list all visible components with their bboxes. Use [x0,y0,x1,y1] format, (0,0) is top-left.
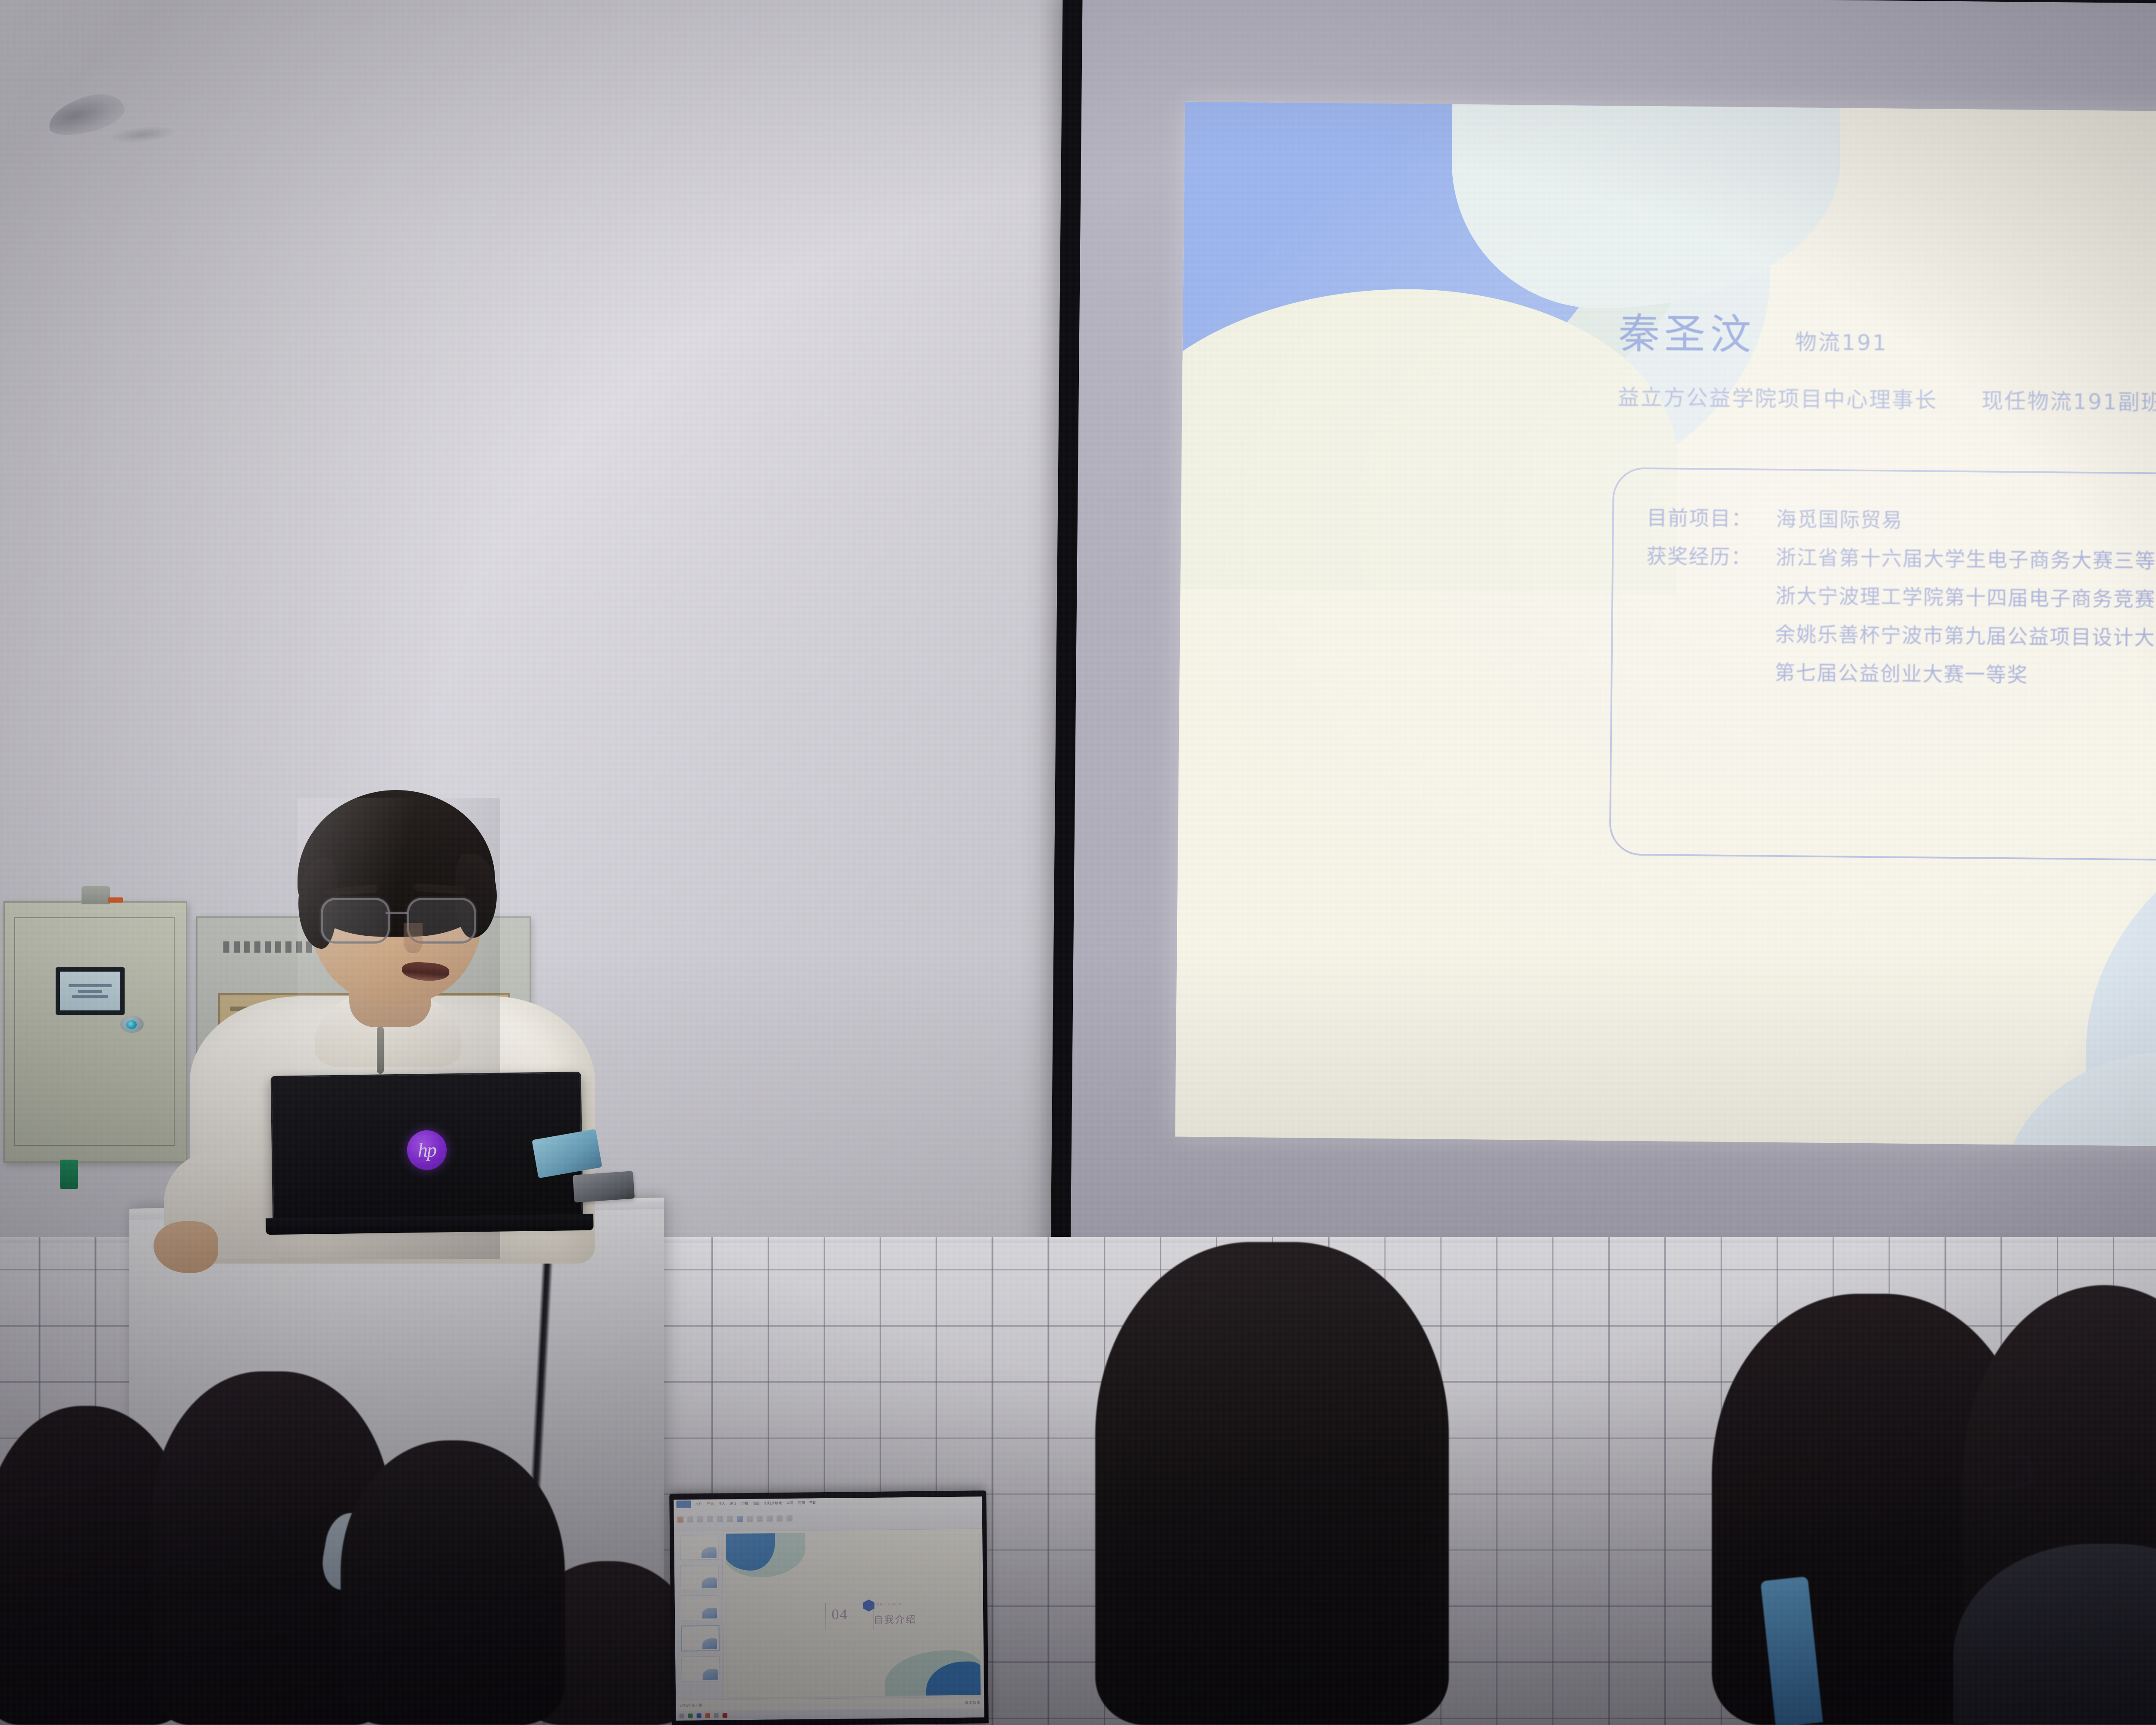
control-box-indicator-light-icon [120,1016,144,1033]
control-box-latch-icon [81,886,110,904]
projected-slide: 秦圣汶 物流191 益立方公益学院项目中心理事长 现任物流191副班长 目前项目… [1175,102,2156,1150]
classroom-scene: 秦圣汶 物流191 益立方公益学院项目中心理事长 现任物流191副班长 目前项目… [0,0,2156,1725]
screen-surface: 秦圣汶 物流191 益立方公益学院项目中心理事长 现任物流191副班长 目前项目… [1070,0,2156,1283]
audience-laptop[interactable]: 文件 开始 插入 设计 切换 动画 幻灯片放映 审阅 视图 帮助 [669,1490,989,1725]
new-slide-icon[interactable] [687,1516,693,1522]
slide-thumbnail-panel[interactable]: 1 2 3 4 5 [674,1531,724,1700]
control-box-panel-outline [14,917,175,1146]
card-row-project: 目前项目： 海觅国际贸易 [1647,501,2156,536]
presenter-zipper-icon [377,1026,384,1074]
status-notes-comments: 备注 批注 [965,1700,980,1705]
card-value-award-3: 余姚乐善杯宁波市第九届公益项目设计大赛三等奖 [1775,618,2156,652]
hp-logo-icon [407,1130,447,1170]
slide-thumbnail-1[interactable]: 1 [680,1535,719,1560]
ribbon-tab-1[interactable]: 开始 [707,1501,714,1506]
card-value-award-4: 第七届公益创业大赛一等奖 [1774,656,2156,690]
control-box-display-screen [60,972,120,1010]
ribbon-tab-8[interactable]: 视图 [798,1500,805,1505]
display-line-3 [72,995,108,998]
app-icon-6[interactable] [723,1713,727,1718]
card-row-awards: 获奖经历： 浙江省第十六届大学生电子商务大赛三等奖 [1646,539,2156,575]
powerpoint-ribbon[interactable]: 文件 开始 插入 设计 切换 动画 幻灯片放映 审阅 视图 帮助 [674,1496,982,1532]
font-icon[interactable] [707,1516,713,1522]
presenter-nose [404,923,423,953]
find-icon[interactable] [787,1515,793,1521]
slide-thumbnail-5[interactable]: 5 [681,1656,720,1682]
thumbnail-art-2 [702,1578,717,1589]
laptop-screen[interactable]: 文件 开始 插入 设计 切换 动画 幻灯片放映 审阅 视图 帮助 [674,1496,984,1720]
card-label-awards: 获奖经历： [1646,539,1776,571]
paste-icon[interactable] [677,1517,683,1523]
layout-icon[interactable] [697,1516,703,1522]
display-line-2 [78,990,102,993]
presenter-name: 秦圣汶 [1618,300,1756,361]
ribbon-command-icons[interactable] [677,1507,980,1529]
bold-icon[interactable] [717,1516,723,1522]
quick-styles-icon[interactable] [777,1515,783,1521]
presenter-role-primary: 益立方公益学院项目中心理事长 [1617,385,1938,413]
slide-card-rows: 目前项目： 海觅国际贸易 获奖经历： 浙江省第十六届大学生电子商务大赛三等奖 浙… [1645,501,2156,699]
status-slide-indicator: 幻灯片 第 4 张 [680,1703,702,1708]
slide-edit-canvas[interactable]: 04 PART FOUR 自我介绍 [726,1531,981,1697]
card-label-project: 目前项目： [1647,501,1777,532]
start-icon[interactable] [680,1713,684,1718]
canvas-wave-bottomright-icon [884,1642,981,1697]
section-title: 自我介绍 [874,1612,917,1626]
presenter-roles: 益立方公益学院项目中心理事长 现任物流191副班长 [1617,380,2156,417]
section-number: 04 [831,1606,848,1623]
list-item [1953,1285,2156,1725]
desk-accessory[interactable] [573,1171,635,1203]
control-box-green-fixture [60,1160,78,1189]
app-icon-5[interactable] [714,1713,719,1718]
browser-icon[interactable] [697,1713,702,1718]
list-item [332,1440,573,1725]
app-icon [676,1500,691,1508]
ribbon-tab-7[interactable]: 审阅 [787,1500,794,1505]
ribbon-tab-6[interactable]: 幻灯片放映 [764,1501,782,1505]
control-box-display [56,967,125,1015]
ribbon-tab-2[interactable]: 插入 [718,1501,726,1506]
eyeglass-bridge [385,912,408,914]
ribbon-tab-9[interactable]: 帮助 [809,1500,817,1505]
slide-thumbnail-2[interactable]: 2 [680,1565,719,1590]
ribbon-tab-3[interactable]: 设计 [730,1501,737,1506]
wall-control-box [3,901,187,1163]
audience-head [1095,1242,1449,1725]
slide-thumbnail-4[interactable]: 4 [681,1625,720,1652]
card-value-award-2: 浙大宁波理工学院第十四届电子商务竞赛三等奖 [1775,579,2156,613]
thumbnail-art-5 [703,1669,718,1680]
thumbnail-art-4 [702,1638,717,1650]
eyeglass-lens-left [321,898,390,944]
ribbon-tab-5[interactable]: 动画 [752,1501,760,1505]
audience-head [341,1440,565,1725]
powerpoint-taskbar-icon[interactable] [705,1713,710,1718]
thumbnail-art-3 [702,1608,717,1619]
ribbon-tab-4[interactable]: 切换 [741,1501,749,1505]
arrange-icon[interactable] [767,1515,773,1521]
presenter-class: 物流191 [1795,325,1888,357]
list-item [1087,1242,1457,1725]
card-value-project: 海觅国际贸易 [1776,502,1903,533]
explorer-icon[interactable] [688,1713,693,1718]
display-line-1 [69,984,112,987]
canvas-wave-topleft-icon [726,1531,805,1583]
presenter-role-secondary: 现任物流191副班长 [1981,388,2156,415]
slide-name-row: 秦圣汶 物流191 [1618,300,1889,362]
slide-thumbnail-3[interactable]: 3 [681,1595,720,1621]
bullets-icon[interactable] [747,1516,753,1522]
card-value-award-1: 浙江省第十六届大学生电子商务大赛三等奖 [1776,541,2156,574]
align-icon[interactable] [737,1516,743,1522]
slide-content: 秦圣汶 物流191 益立方公益学院项目中心理事长 现任物流191副班长 目前项目… [1175,102,2156,1150]
eyeglasses-icon [318,898,477,941]
thumbnail-art-1 [702,1547,717,1559]
ribbon-tab-0[interactable]: 文件 [695,1502,702,1506]
italic-icon[interactable] [727,1516,733,1522]
projection-screen: 秦圣汶 物流191 益立方公益学院项目中心理事长 现任物流191副班长 目前项目… [1050,0,2156,1327]
shapes-icon[interactable] [757,1516,763,1522]
section-kicker: PART FOUR [873,1603,902,1607]
